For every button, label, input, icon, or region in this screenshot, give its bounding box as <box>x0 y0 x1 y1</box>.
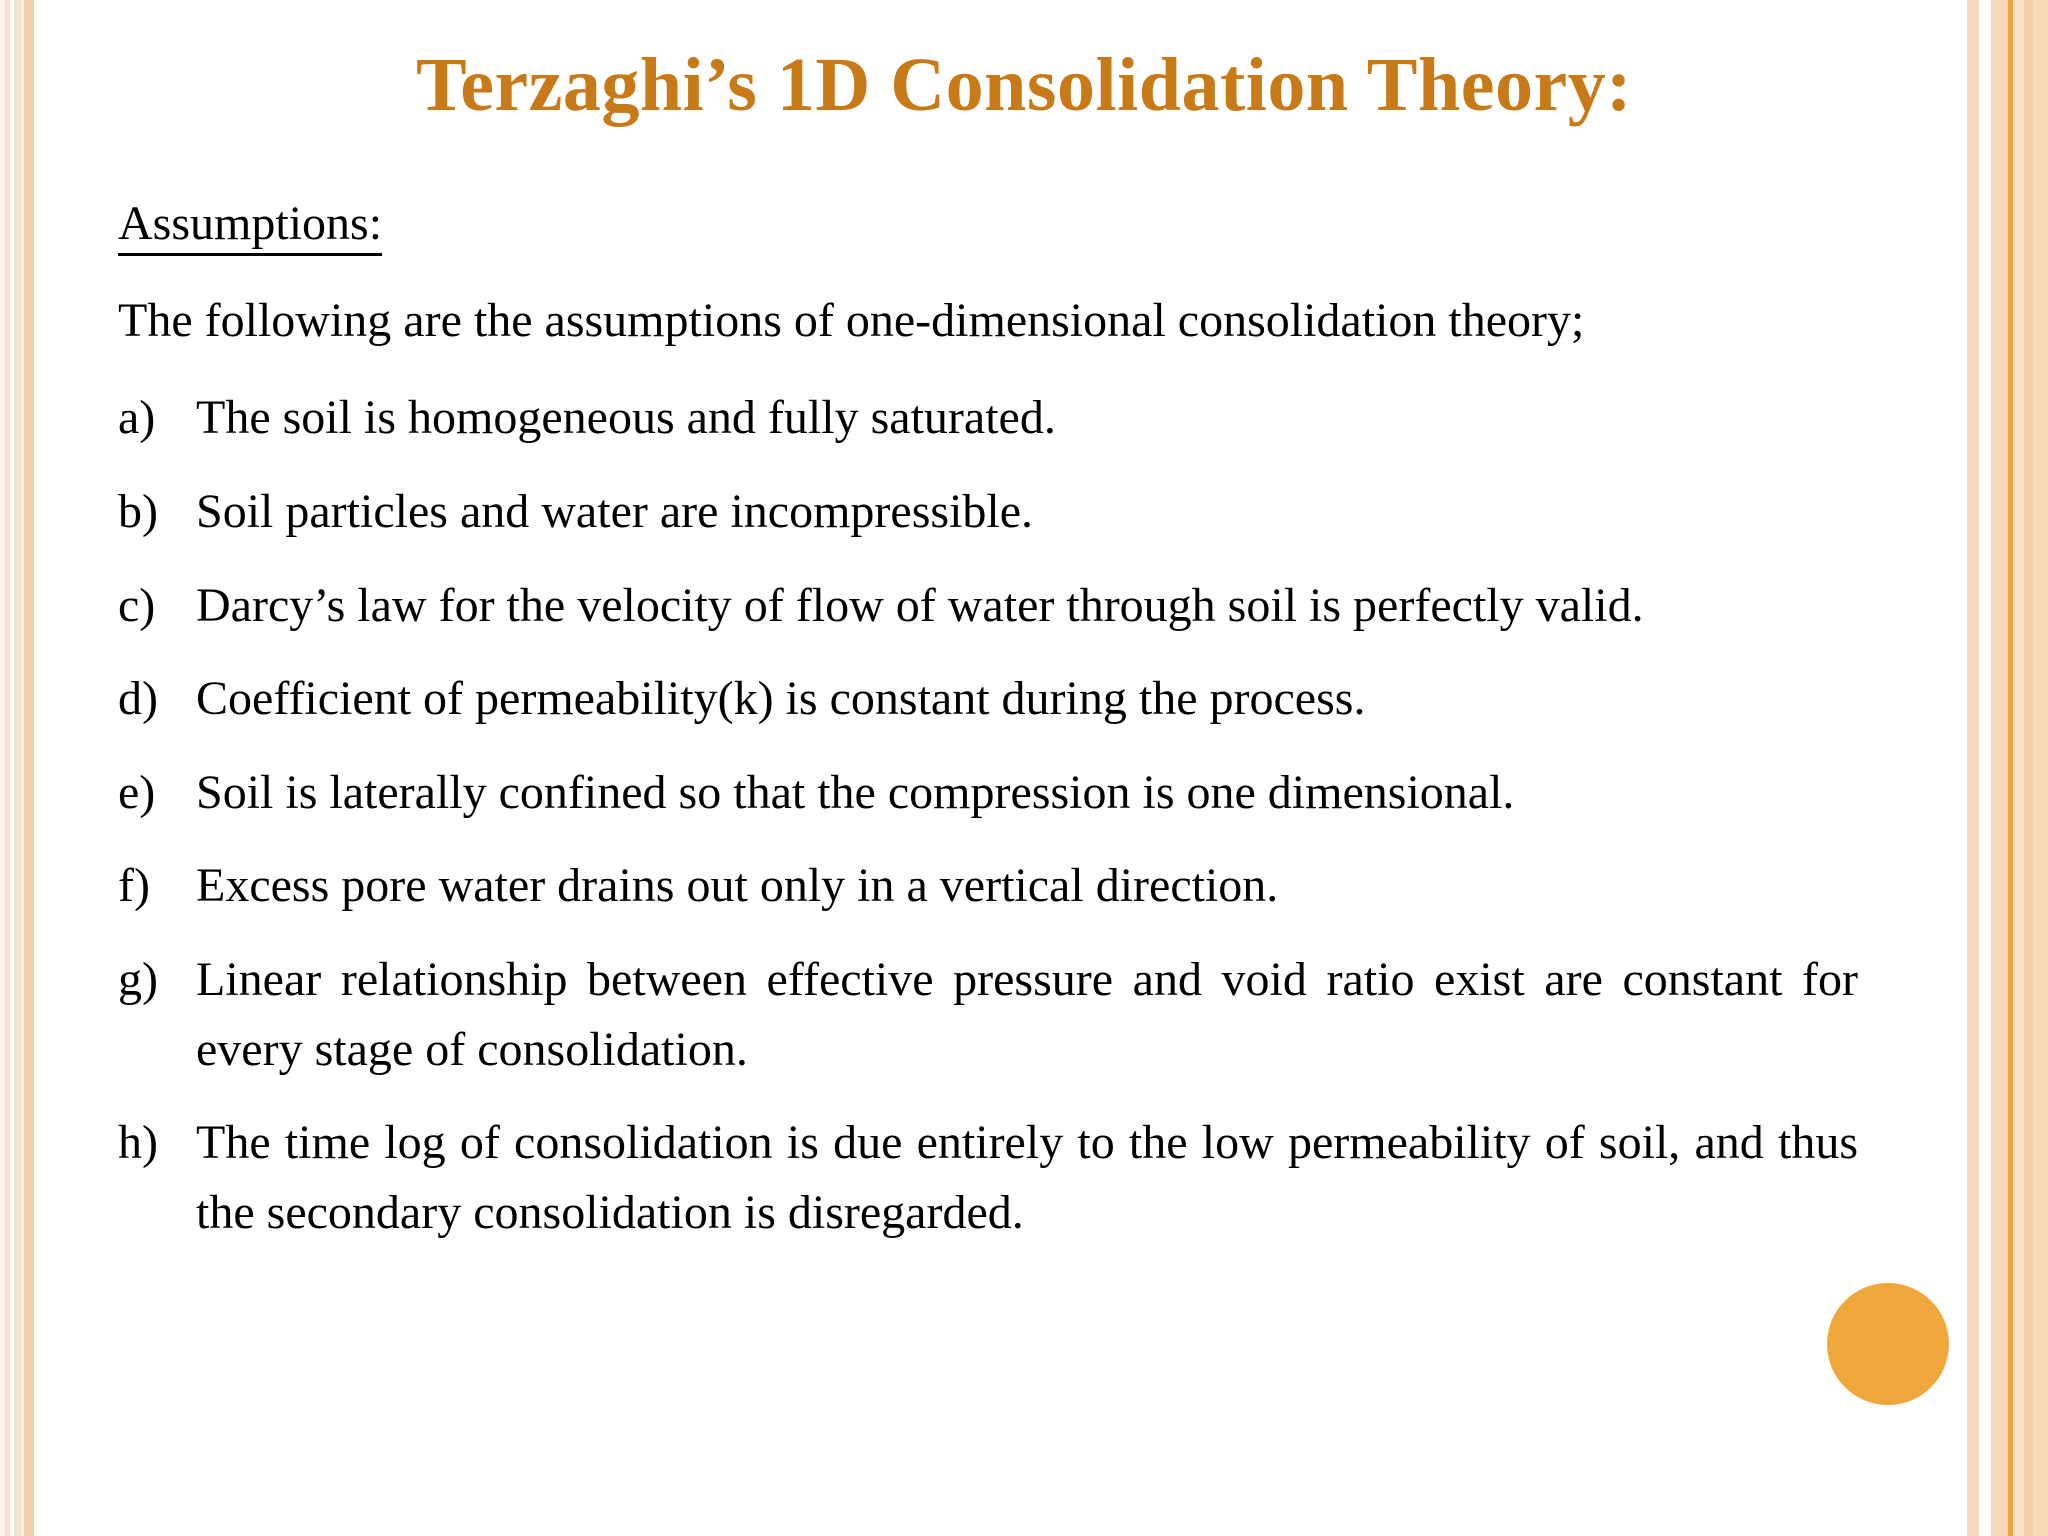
list-item-marker: e) <box>118 758 196 828</box>
list-item-text: Linear relationship between effective pr… <box>196 945 1858 1084</box>
slide-body: Assumptions: The following are the assum… <box>118 188 1858 1271</box>
assumptions-heading-wrap: Assumptions: <box>118 188 1858 286</box>
slide-title: Terzaghi’s 1D Consolidation Theory: <box>0 46 2048 126</box>
right-stripe-7 <box>2033 0 2048 1536</box>
list-item: e) Soil is laterally confined so that th… <box>118 758 1858 828</box>
left-stripe-border <box>0 0 34 1536</box>
slide-canvas: Terzaghi’s 1D Consolidation Theory: Assu… <box>0 0 2048 1536</box>
left-stripe-4 <box>14 0 21 1536</box>
intro-paragraph: The following are the assumptions of one… <box>118 286 1858 356</box>
list-item-marker: d) <box>118 664 196 734</box>
list-item-marker: b) <box>118 477 196 547</box>
right-stripe-2 <box>1967 0 1979 1536</box>
assumptions-heading: Assumptions: <box>118 198 382 256</box>
right-stripe-6 <box>2024 0 2033 1536</box>
list-item: c) Darcy’s law for the velocity of flow … <box>118 571 1858 641</box>
right-stripe-4 <box>1991 0 2008 1536</box>
right-stripe-1 <box>1953 0 1967 1536</box>
list-item-marker: a) <box>118 383 196 453</box>
list-item-marker: c) <box>118 571 196 641</box>
assumptions-list: a) The soil is homogeneous and fully sat… <box>118 383 1858 1247</box>
list-item: b) Soil particles and water are incompre… <box>118 477 1858 547</box>
right-stripe-3 <box>1979 0 1991 1536</box>
left-stripe-6 <box>24 0 34 1536</box>
list-item-text: The time log of consolidation is due ent… <box>196 1108 1858 1247</box>
right-stripe-5 <box>2013 0 2024 1536</box>
list-item-text: Darcy’s law for the velocity of flow of … <box>196 571 1858 641</box>
right-stripe-border <box>1953 0 2048 1536</box>
orange-circle-decoration <box>1827 1283 1949 1405</box>
list-item: d) Coefficient of permeability(k) is con… <box>118 664 1858 734</box>
list-item: h) The time log of consolidation is due … <box>118 1108 1858 1247</box>
list-item: f) Excess pore water drains out only in … <box>118 851 1858 921</box>
list-item-marker: g) <box>118 945 196 1015</box>
list-item-text: Soil is laterally confined so that the c… <box>196 758 1858 828</box>
list-item-marker: h) <box>118 1108 196 1178</box>
list-item: g) Linear relationship between effective… <box>118 945 1858 1084</box>
list-item-text: Coefficient of permeability(k) is consta… <box>196 664 1858 734</box>
list-item-text: Soil particles and water are incompressi… <box>196 477 1858 547</box>
list-item-text: The soil is homogeneous and fully satura… <box>196 383 1858 453</box>
list-item: a) The soil is homogeneous and fully sat… <box>118 383 1858 453</box>
list-item-marker: f) <box>118 851 196 921</box>
list-item-text: Excess pore water drains out only in a v… <box>196 851 1858 921</box>
